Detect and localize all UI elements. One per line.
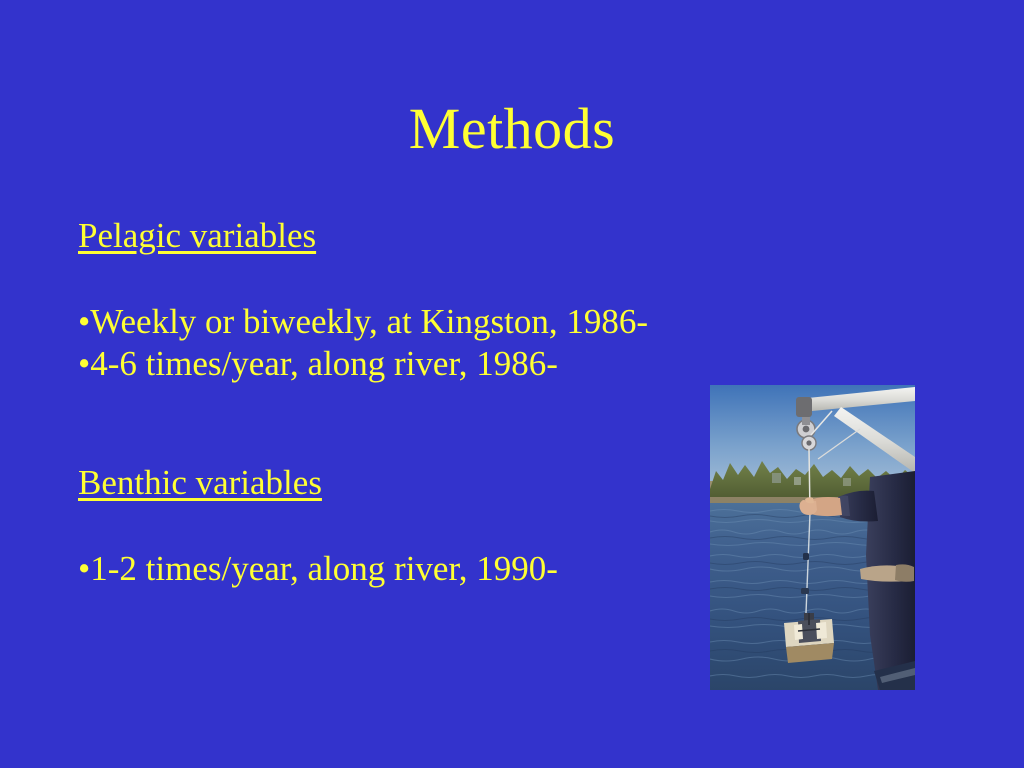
slide-body: Pelagic variables •Weekly or biweekly, a… <box>78 214 698 589</box>
bullet-icon: • <box>78 549 90 588</box>
section-heading-row-pelagic: Pelagic variables <box>78 214 698 257</box>
list-item-label: 4-6 times/year, along river, 1986- <box>90 344 558 383</box>
section-heading-pelagic: Pelagic variables <box>78 214 316 257</box>
spacer <box>78 384 698 427</box>
slide-canvas: Methods Pelagic variables •Weekly or biw… <box>0 0 1024 768</box>
list-item-label: 1-2 times/year, along river, 1990- <box>90 549 558 588</box>
list-item: •4-6 times/year, along river, 1986- <box>78 342 698 384</box>
section-heading-benthic: Benthic variables <box>78 461 322 504</box>
page-title: Methods <box>0 96 1024 162</box>
spacer <box>78 427 698 461</box>
list-item-label: Weekly or biweekly, at Kingston, 1986- <box>90 302 648 341</box>
spacer <box>78 257 698 300</box>
bullet-icon: • <box>78 302 90 341</box>
photo-illustration <box>710 385 915 690</box>
bullet-icon: • <box>78 344 90 383</box>
list-item: •Weekly or biweekly, at Kingston, 1986- <box>78 300 698 342</box>
benthic-grab-sampler-photo <box>710 385 915 690</box>
spacer <box>78 504 698 547</box>
section-heading-row-benthic: Benthic variables <box>78 461 698 504</box>
list-item: •1-2 times/year, along river, 1990- <box>78 547 698 589</box>
